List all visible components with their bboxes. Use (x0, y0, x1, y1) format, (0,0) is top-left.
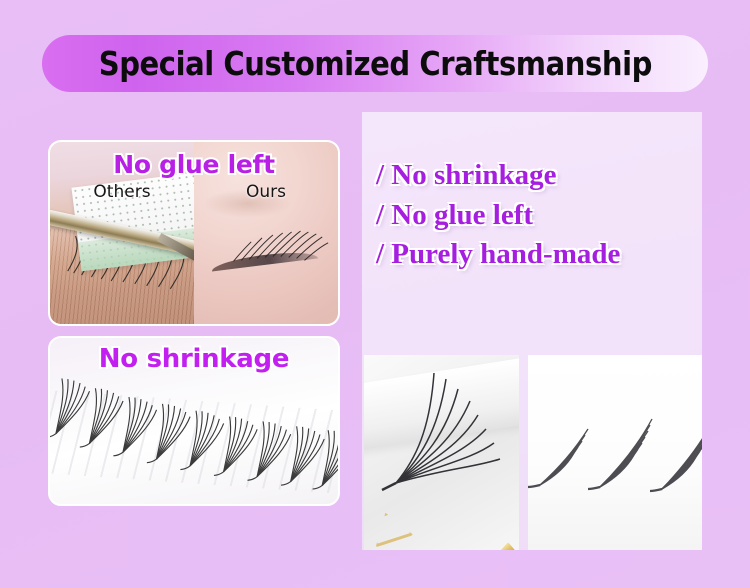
no-shrinkage-text: No shrinkage (99, 344, 289, 374)
feature-item-2: / Purely hand-made (376, 235, 688, 275)
shrinkage-card: No shrinkage (48, 336, 340, 506)
promo-graphic: Special Customized Craftsmanship (0, 0, 750, 588)
no-glue-left-text: No glue left (113, 150, 274, 179)
feature-item-0: / No shrinkage (376, 156, 688, 196)
features-list: / No shrinkage / No glue left / Purely h… (376, 156, 688, 275)
no-shrinkage-overlay: No shrinkage (50, 344, 338, 374)
title-banner: Special Customized Craftsmanship (42, 35, 708, 92)
label-ours: Ours (194, 182, 338, 202)
feature-item-1: / No glue left (376, 196, 688, 236)
no-glue-left-overlay: No glue left (50, 150, 338, 179)
comparison-card: No glue left Others Ours (48, 140, 340, 326)
page-title: Special Customized Craftsmanship (98, 47, 651, 80)
features-panel: / No shrinkage / No glue left / Purely h… (362, 112, 702, 550)
tweezer-photo (364, 355, 519, 550)
three-lash-fans-icon (528, 355, 702, 550)
fans-photo (528, 355, 702, 550)
label-others: Others (50, 182, 194, 202)
